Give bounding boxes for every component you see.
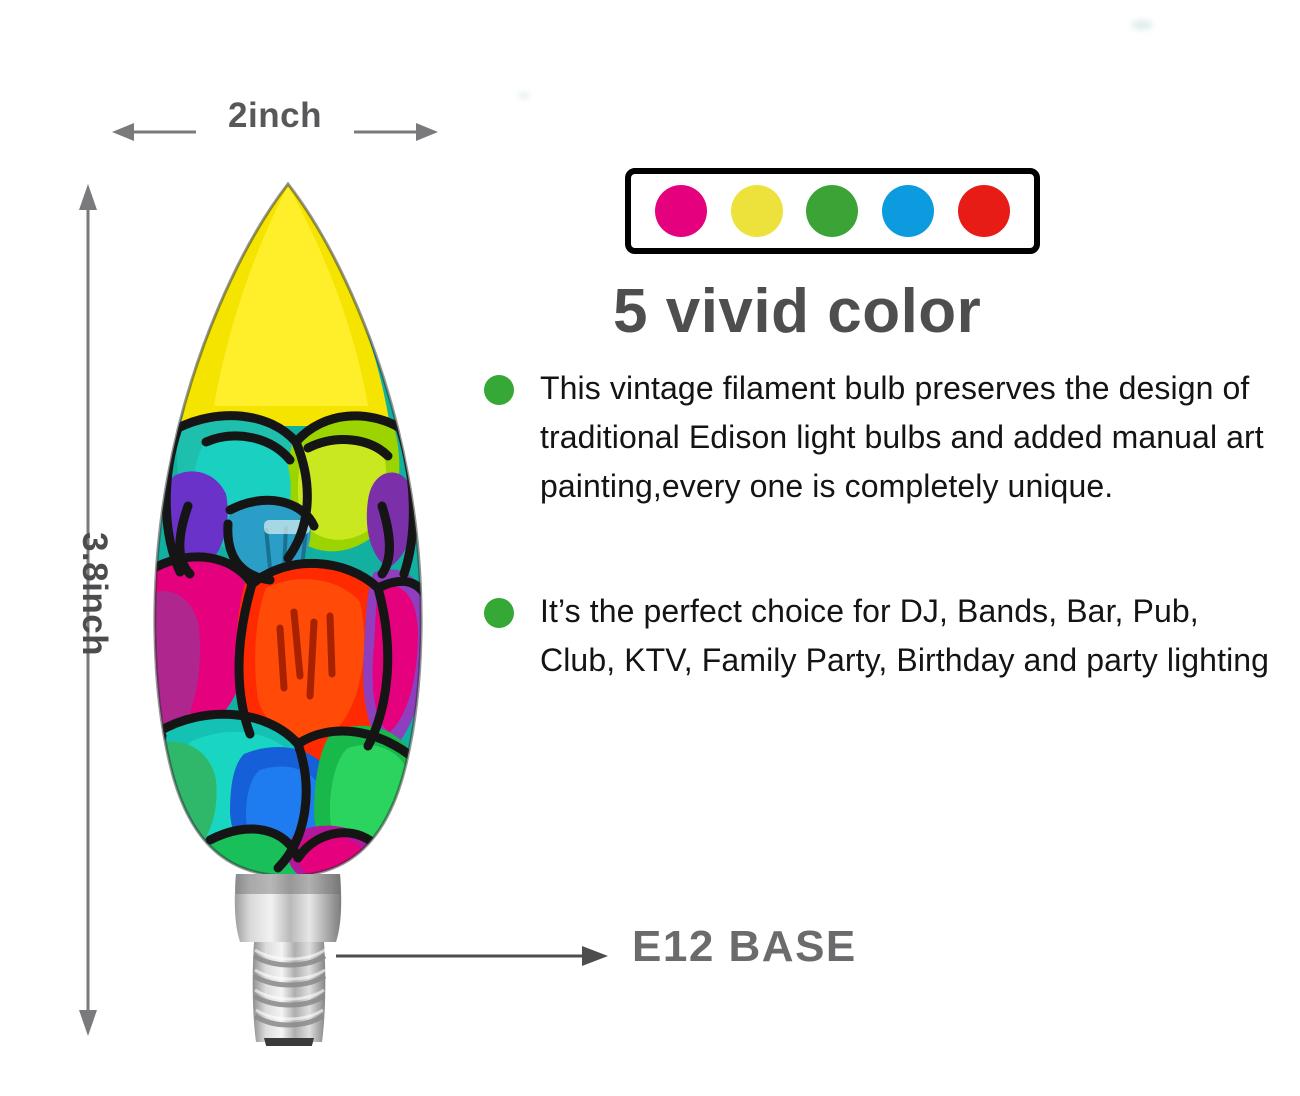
feature-text: It’s the perfect choice for DJ, Bands, B… xyxy=(540,587,1280,685)
color-dot-yellow xyxy=(731,185,783,237)
feature-item-usage: It’s the perfect choice for DJ, Bands, B… xyxy=(480,587,1280,685)
height-dimension-label: 3.8inch xyxy=(74,499,114,689)
width-dimension-annotation: 2inch xyxy=(108,96,442,158)
feature-text: This vintage filament bulb preserves the… xyxy=(540,364,1280,511)
scan-artifact-top-right xyxy=(1131,20,1153,30)
color-swatch-panel xyxy=(625,168,1040,254)
feature-item-design: This vintage filament bulb preserves the… xyxy=(480,364,1280,511)
bullet-icon xyxy=(484,375,514,405)
scan-artifact-top-middle xyxy=(518,92,530,99)
e12-base-callout: E12 BASE xyxy=(336,916,976,996)
color-dot-blue xyxy=(882,185,934,237)
bulb-base-threads xyxy=(253,942,326,1042)
width-dimension-label: 2inch xyxy=(108,96,442,136)
headline-5-vivid-color: 5 vivid color xyxy=(613,276,981,347)
e12-base-label: E12 BASE xyxy=(632,922,857,972)
color-dot-red xyxy=(958,185,1010,237)
height-dimension-annotation: 3.8inch xyxy=(62,182,122,1038)
feature-list: This vintage filament bulb preserves the… xyxy=(480,364,1280,761)
bullet-icon xyxy=(484,598,514,628)
bulb-base-contact-tip xyxy=(264,1038,314,1046)
color-dot-green xyxy=(806,185,858,237)
e12-leader-arrow xyxy=(336,916,626,996)
color-dot-magenta xyxy=(655,185,707,237)
